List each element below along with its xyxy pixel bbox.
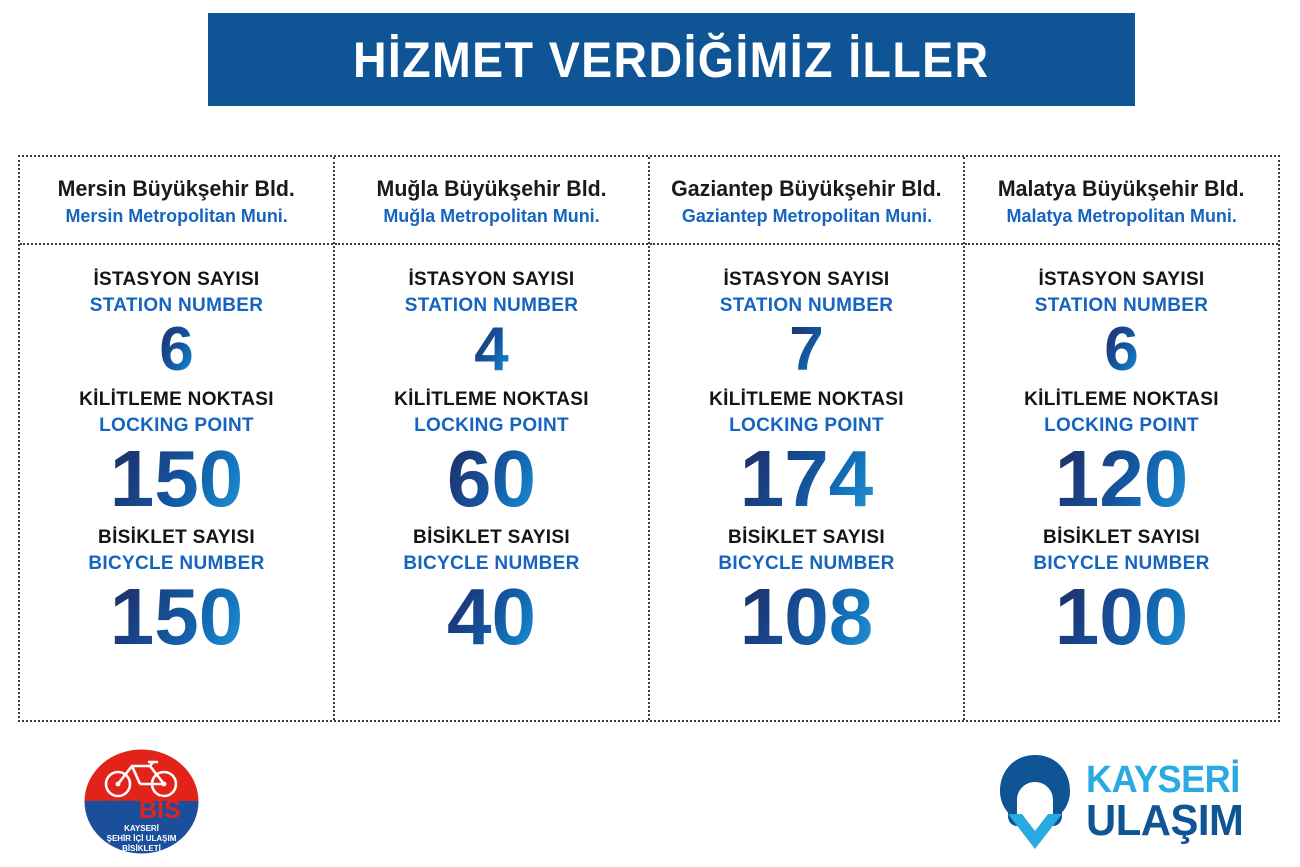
stat-label-tr: İSTASYON SAYISI (1038, 270, 1204, 291)
kaybis-wordmark-bis: BİS (139, 796, 181, 824)
kaybis-tagline-line2: ŞEHİR İÇİ ULAŞIM (107, 834, 177, 843)
city-name-tr: Mersin Büyükşehir Bld. (58, 177, 295, 202)
cities-table: Mersin Büyükşehir Bld. Mersin Metropolit… (18, 155, 1280, 722)
stat-label-tr: KİLİTLEME NOKTASI (1024, 390, 1219, 411)
city-column-mersin: Mersin Büyükşehir Bld. Mersin Metropolit… (20, 157, 335, 720)
kaybis-tagline-line1: KAYSERİ (124, 824, 159, 833)
stat-value: 120 (1055, 440, 1188, 518)
city-name-tr: Malatya Büyükşehir Bld. (998, 177, 1245, 202)
kayseri-ulasim-logo: KAYSERİ ULAŞIM (996, 752, 1258, 852)
stat-label-tr: İSTASYON SAYISI (93, 270, 259, 291)
city-name-en: Gaziantep Metropolitan Muni. (681, 204, 931, 227)
stat-label-tr: KİLİTLEME NOKTASI (709, 390, 904, 411)
kaybis-logo-icon: KAY BİS KAYSERİ ŞEHİR İÇİ ULAŞIM BİSİKLE… (80, 748, 203, 855)
title-banner: HİZMET VERDİĞİMİZ İLLER (208, 13, 1135, 106)
stat-station-number: İSTASYON SAYISI STATION NUMBER 6 (965, 270, 1278, 380)
column-stats: İSTASYON SAYISI STATION NUMBER 7 KİLİTLE… (650, 245, 963, 720)
kaybis-tagline-line3: BİSİKLETİ (122, 844, 161, 853)
stat-value: 60 (447, 440, 536, 518)
stat-label-tr: KİLİTLEME NOKTASI (79, 390, 274, 411)
stat-value: 7 (789, 320, 823, 381)
stat-label-tr: BİSİKLET SAYISI (728, 528, 885, 549)
column-stats: İSTASYON SAYISI STATION NUMBER 4 KİLİTLE… (335, 245, 648, 720)
column-header: Mersin Büyükşehir Bld. Mersin Metropolit… (20, 157, 333, 245)
stat-locking-point: KİLİTLEME NOKTASI LOCKING POINT 150 (20, 390, 333, 518)
city-column-malatya: Malatya Büyükşehir Bld. Malatya Metropol… (965, 157, 1278, 720)
stat-station-number: İSTASYON SAYISI STATION NUMBER 6 (20, 270, 333, 380)
column-stats: İSTASYON SAYISI STATION NUMBER 6 KİLİTLE… (965, 245, 1278, 720)
stat-value: 108 (740, 578, 873, 656)
stat-value: 150 (110, 578, 243, 656)
stat-label-tr: İSTASYON SAYISI (408, 270, 574, 291)
wordmark-kayseri: KAYSERİ (1086, 762, 1243, 798)
column-header: Gaziantep Büyükşehir Bld. Gaziantep Metr… (650, 157, 963, 245)
stat-label-tr: BİSİKLET SAYISI (98, 528, 255, 549)
kaybis-logo: KAY BİS KAYSERİ ŞEHİR İÇİ ULAŞIM BİSİKLE… (80, 748, 203, 855)
city-name-tr: Muğla Büyükşehir Bld. (376, 177, 606, 202)
city-column-gaziantep: Gaziantep Büyükşehir Bld. Gaziantep Metr… (650, 157, 965, 720)
stat-value: 40 (447, 578, 536, 656)
column-header: Muğla Büyükşehir Bld. Muğla Metropolitan… (335, 157, 648, 245)
city-name-tr: Gaziantep Büyükşehir Bld. (671, 177, 941, 202)
column-header: Malatya Büyükşehir Bld. Malatya Metropol… (965, 157, 1278, 245)
stat-station-number: İSTASYON SAYISI STATION NUMBER 7 (650, 270, 963, 380)
stat-bicycle-number: BİSİKLET SAYISI BICYCLE NUMBER 108 (650, 528, 963, 656)
stat-value: 150 (110, 440, 243, 518)
city-column-mugla: Muğla Büyükşehir Bld. Muğla Metropolitan… (335, 157, 650, 720)
stat-label-tr: İSTASYON SAYISI (723, 270, 889, 291)
stat-value: 6 (1104, 320, 1138, 381)
city-name-en: Malatya Metropolitan Muni. (1006, 204, 1236, 227)
stat-station-number: İSTASYON SAYISI STATION NUMBER 4 (335, 270, 648, 380)
kayseri-ulasim-wordmark: KAYSERİ ULAŞIM (1086, 762, 1252, 842)
stat-label-tr: BİSİKLET SAYISI (1043, 528, 1200, 549)
stat-locking-point: KİLİTLEME NOKTASI LOCKING POINT 120 (965, 390, 1278, 518)
column-stats: İSTASYON SAYISI STATION NUMBER 6 KİLİTLE… (20, 245, 333, 720)
city-name-en: Mersin Metropolitan Muni. (65, 204, 287, 227)
city-name-en: Muğla Metropolitan Muni. (383, 204, 599, 227)
stat-value: 100 (1055, 578, 1188, 656)
stat-value: 4 (474, 320, 508, 381)
kaybis-wordmark-kay: KAY (93, 796, 144, 824)
location-pin-icon (996, 752, 1074, 852)
stat-value: 6 (159, 320, 193, 381)
wordmark-ulasim: ULAŞIM (1086, 800, 1243, 842)
stat-bicycle-number: BİSİKLET SAYISI BICYCLE NUMBER 40 (335, 528, 648, 656)
stat-label-tr: KİLİTLEME NOKTASI (394, 390, 589, 411)
stat-locking-point: KİLİTLEME NOKTASI LOCKING POINT 60 (335, 390, 648, 518)
stat-locking-point: KİLİTLEME NOKTASI LOCKING POINT 174 (650, 390, 963, 518)
stat-label-tr: BİSİKLET SAYISI (413, 528, 570, 549)
stat-bicycle-number: BİSİKLET SAYISI BICYCLE NUMBER 150 (20, 528, 333, 656)
page-title: HİZMET VERDİĞİMİZ İLLER (353, 35, 990, 85)
stat-bicycle-number: BİSİKLET SAYISI BICYCLE NUMBER 100 (965, 528, 1278, 656)
stat-value: 174 (740, 440, 873, 518)
